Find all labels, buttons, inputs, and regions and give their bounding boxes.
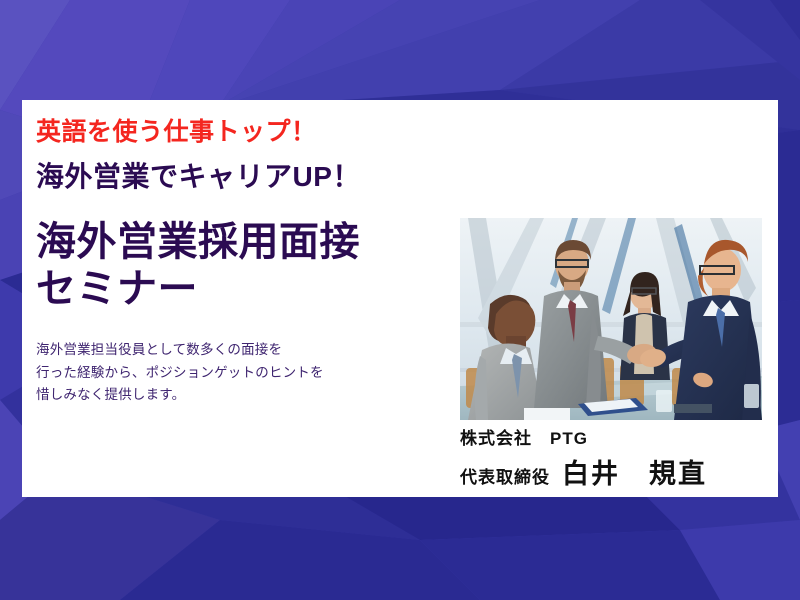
handshake-meeting-photo: [460, 218, 762, 420]
description-line-2: 行った経験から、ポジションゲットのヒントを: [36, 362, 466, 384]
content-card: 英語を使う仕事トップ！ 海外営業でキャリアUP！ 海外営業採用面接 セミナー 海…: [22, 100, 778, 497]
presenter-name: 白井 規直: [562, 456, 707, 492]
presenter-role: 代表取締役: [460, 467, 550, 490]
main-title-line-1: 海外営業採用面接: [36, 220, 360, 264]
presenter-credit: 株式会社 PTG 代表取締役 白井 規直: [460, 428, 772, 492]
description-text: 海外営業担当役員として数多くの面接を 行った経験から、ポジションゲットのヒントを…: [36, 339, 466, 406]
text-column: 英語を使う仕事トップ！ 海外営業でキャリアUP！ 海外営業採用面接 セミナー 海…: [36, 118, 466, 406]
kicker-text: 英語を使う仕事トップ！: [36, 118, 466, 147]
presenter-role-name-row: 代表取締役 白井 規直: [460, 456, 772, 492]
subheading-text: 海外営業でキャリアUP！: [36, 161, 466, 193]
description-line-3: 惜しみなく提供します。: [36, 384, 466, 406]
presenter-company: 株式会社 PTG: [460, 428, 772, 451]
photo-illustration: [460, 218, 762, 420]
main-title-line-2: セミナー: [36, 266, 466, 313]
description-line-1: 海外営業担当役員として数多くの面接を: [36, 339, 466, 361]
seminar-banner: 英語を使う仕事トップ！ 海外営業でキャリアUP！ 海外営業採用面接 セミナー 海…: [0, 0, 800, 600]
main-title: 海外営業採用面接 セミナー: [36, 219, 466, 313]
